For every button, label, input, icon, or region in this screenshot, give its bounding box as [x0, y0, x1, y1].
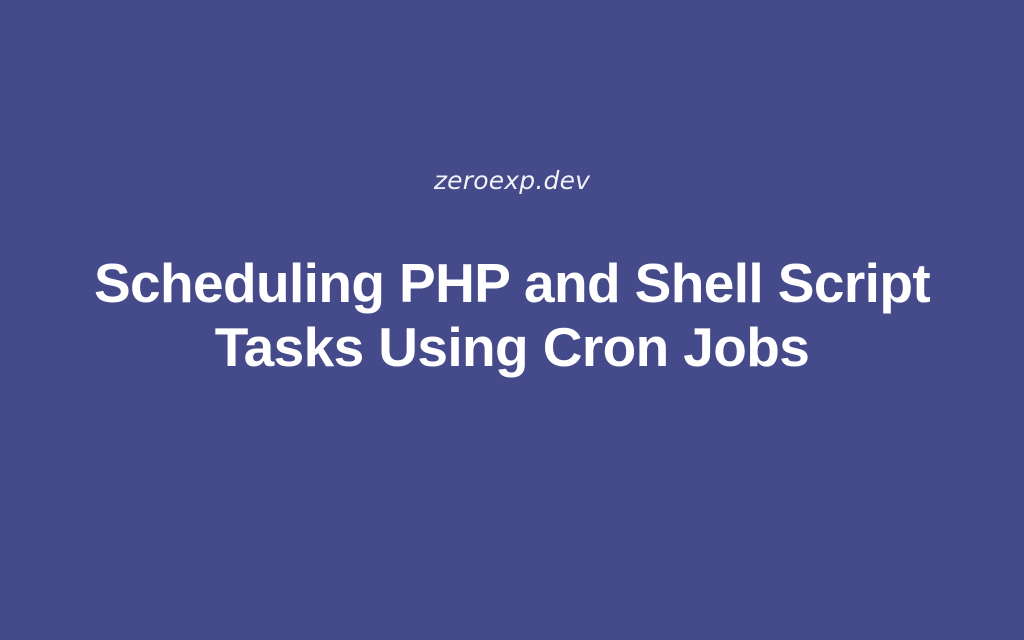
page-title: Scheduling PHP and Shell Script Tasks Us… — [72, 252, 952, 380]
site-brand-name: zeroexp.dev — [0, 168, 1024, 193]
og-share-card: zeroexp.dev Scheduling PHP and Shell Scr… — [0, 0, 1024, 640]
